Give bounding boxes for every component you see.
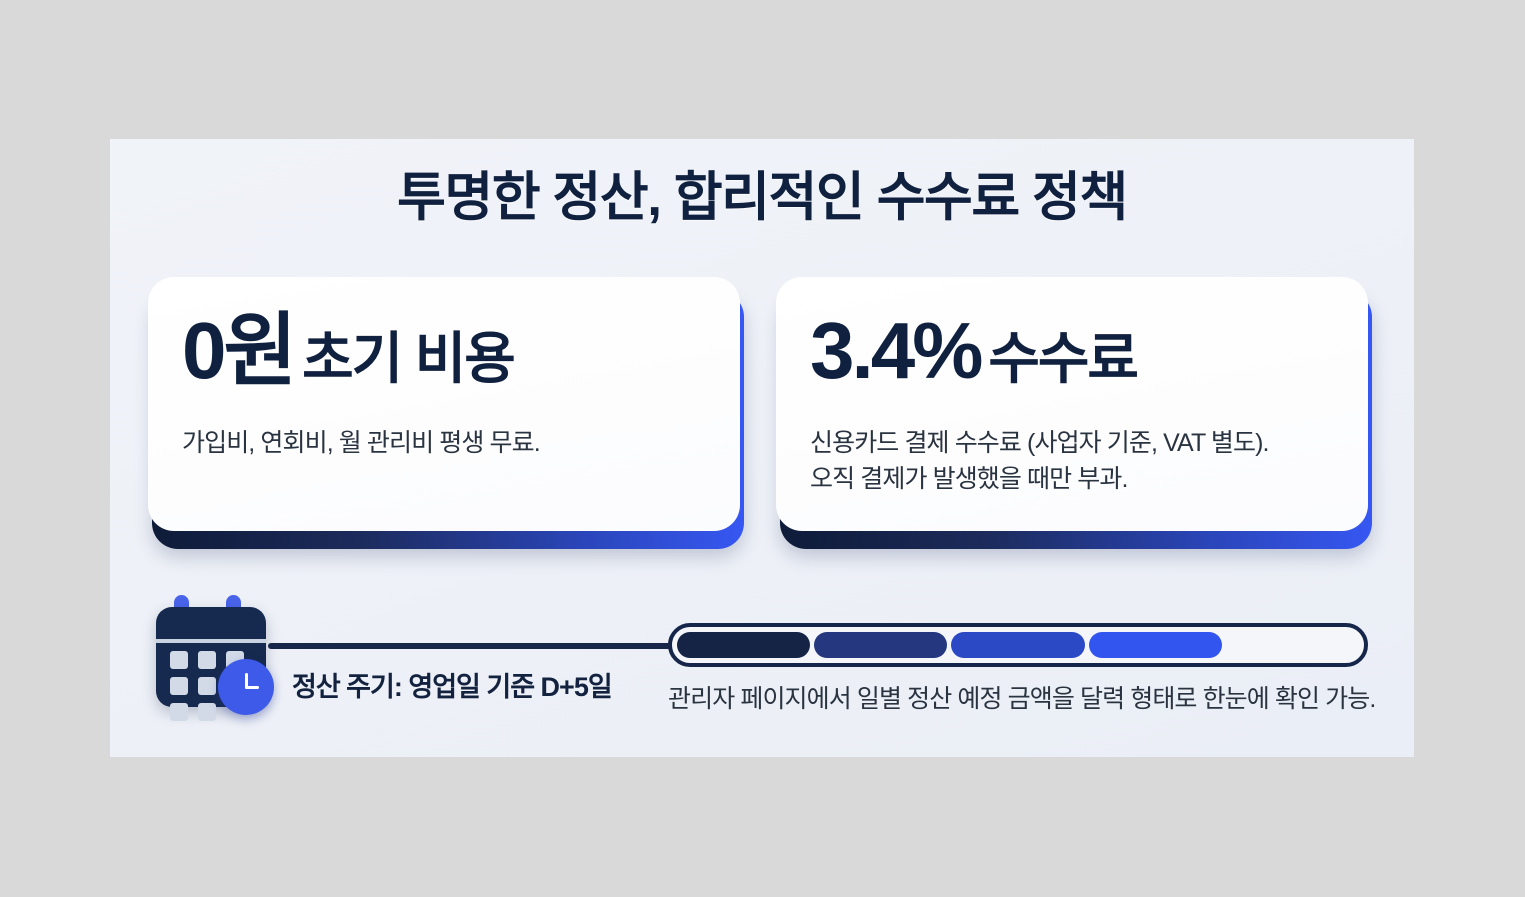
card-description-line-1: 신용카드 결제 수수료 (사업자 기준, VAT 별도). — [810, 429, 1269, 457]
card-heading: 3.4%수수료 — [810, 311, 1334, 391]
calendar-day-cell — [198, 677, 216, 695]
calendar-clock-icon — [148, 595, 274, 715]
card-surface: 0원초기 비용 가입비, 연회비, 월 관리비 평생 무료. — [148, 277, 740, 531]
progress-segment-3 — [951, 632, 1084, 658]
card-surface: 3.4%수수료 신용카드 결제 수수료 (사업자 기준, VAT 별도). 오직… — [776, 277, 1368, 531]
calendar-header-divider — [156, 639, 266, 643]
settlement-timeline: 정산 주기: 영업일 기준 D+5일 관리자 페이지에서 일별 정산 예정 금액… — [110, 579, 1414, 739]
settlement-caption: 관리자 페이지에서 일별 정산 예정 금액을 달력 형태로 한눈에 확인 가능. — [668, 679, 1374, 715]
infographic-canvas: 투명한 정산, 합리적인 수수료 정책 0원초기 비용 가입비, 연회비, 월 … — [0, 0, 1525, 897]
card-metric-label: 초기 비용 — [302, 327, 514, 390]
card-metric-value: 3.4% — [810, 306, 980, 395]
settlement-progress-bar — [668, 623, 1368, 667]
calendar-day-cell — [198, 703, 216, 721]
card-description-line-2: 오직 결제가 발생했을 때만 부과. — [810, 465, 1128, 493]
progress-segment-2 — [814, 632, 947, 658]
calendar-day-cell — [170, 651, 188, 669]
card-description: 가입비, 연회비, 월 관리비 평생 무료. — [182, 391, 706, 461]
calendar-day-cell — [170, 677, 188, 695]
card-heading: 0원초기 비용 — [182, 311, 706, 391]
clock-badge-icon — [218, 659, 274, 715]
card-initial-cost: 0원초기 비용 가입비, 연회비, 월 관리비 평생 무료. — [148, 277, 748, 549]
card-metric-label: 수수료 — [988, 327, 1137, 390]
calendar-day-cell — [170, 703, 188, 721]
settlement-cycle-label: 정산 주기: 영업일 기준 D+5일 — [292, 665, 612, 704]
calendar-day-cell — [198, 651, 216, 669]
card-description: 신용카드 결제 수수료 (사업자 기준, VAT 별도). 오직 결제가 발생했… — [810, 391, 1334, 498]
page-title: 투명한 정산, 합리적인 수수료 정책 — [110, 155, 1414, 231]
progress-segment-4 — [1089, 632, 1222, 658]
progress-segment-1 — [677, 632, 810, 658]
card-metric-value: 0원 — [182, 306, 294, 395]
highlight-cards-row: 0원초기 비용 가입비, 연회비, 월 관리비 평생 무료. 3.4%수수료 신… — [148, 277, 1376, 549]
content-panel: 투명한 정산, 합리적인 수수료 정책 0원초기 비용 가입비, 연회비, 월 … — [110, 139, 1414, 757]
card-transaction-fee: 3.4%수수료 신용카드 결제 수수료 (사업자 기준, VAT 별도). 오직… — [776, 277, 1376, 549]
card-description-line-1: 가입비, 연회비, 월 관리비 평생 무료. — [182, 429, 540, 457]
